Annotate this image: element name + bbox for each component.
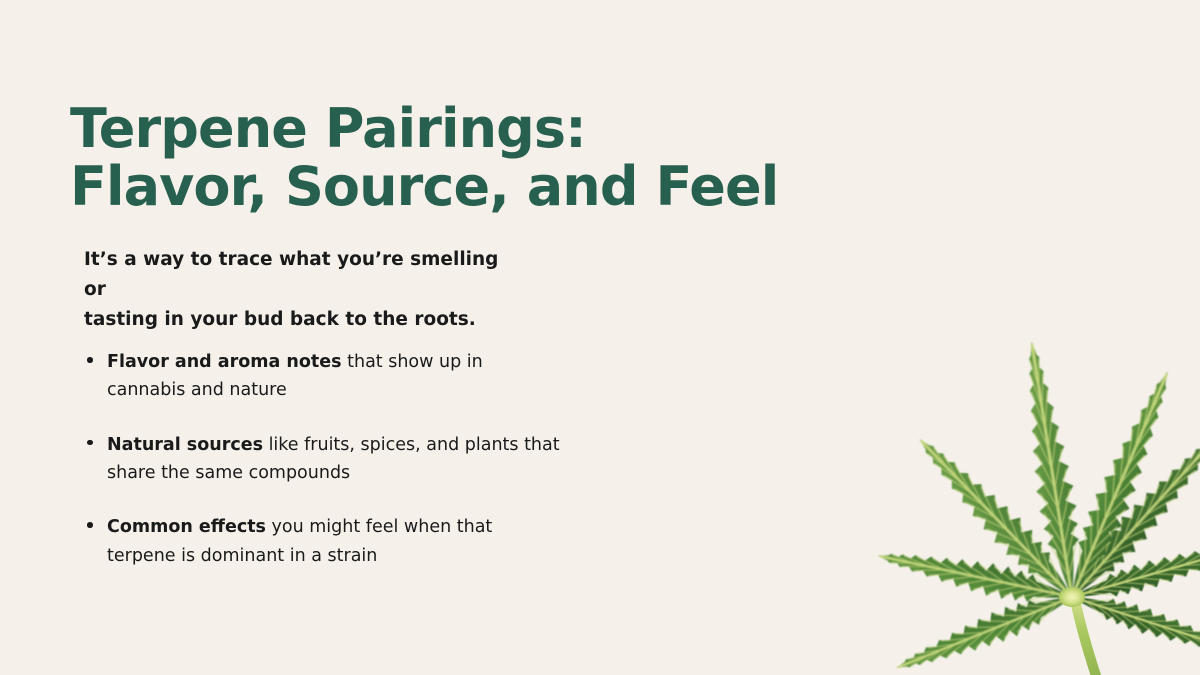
list-item: Natural sources like fruits, spices, and… [84, 431, 564, 488]
leaflet-left-upper [907, 427, 1085, 610]
page-title: Terpene Pairings: Flavor, Source, and Fe… [70, 100, 750, 217]
bullet-dot-icon [87, 522, 93, 528]
leaflet-left-mid [874, 539, 1075, 613]
leaflet-right-mid [1059, 423, 1200, 609]
leaflet-right-upper [1055, 364, 1185, 604]
text-column: Terpene Pairings: Flavor, Source, and Fe… [70, 0, 670, 675]
bullet-lead: Natural sources [107, 435, 263, 455]
bullet-dot-icon [87, 440, 93, 446]
leaf-hub [1059, 587, 1085, 607]
leaflet-center [1013, 339, 1090, 600]
title-line-2: Flavor, Source, and Feel [70, 158, 750, 216]
slide-root: Terpene Pairings: Flavor, Source, and Fe… [0, 0, 1200, 675]
list-item: Common effects you might feel when that … [84, 513, 564, 570]
bullet-lead: Common effects [107, 517, 266, 537]
leaflet-left-lower [890, 582, 1078, 675]
subtitle: It’s a way to trace what you’re smelling… [84, 245, 504, 335]
list-item: Flavor and aroma notes that show up in c… [84, 348, 564, 405]
bullet-lead: Flavor and aroma notes [107, 352, 342, 372]
leaf-petiole [1070, 599, 1108, 675]
leaflet-right-lower [1068, 529, 1200, 611]
leaflet-far-right [1068, 584, 1200, 666]
bullet-dot-icon [87, 357, 93, 363]
bullet-list: Flavor and aroma notes that show up in c… [84, 348, 564, 570]
cannabis-leaf-image [680, 0, 1200, 675]
title-line-1: Terpene Pairings: [70, 100, 750, 158]
subtitle-line-2: tasting in your bud back to the roots. [84, 305, 504, 335]
subtitle-line-1: It’s a way to trace what you’re smelling… [84, 245, 504, 305]
